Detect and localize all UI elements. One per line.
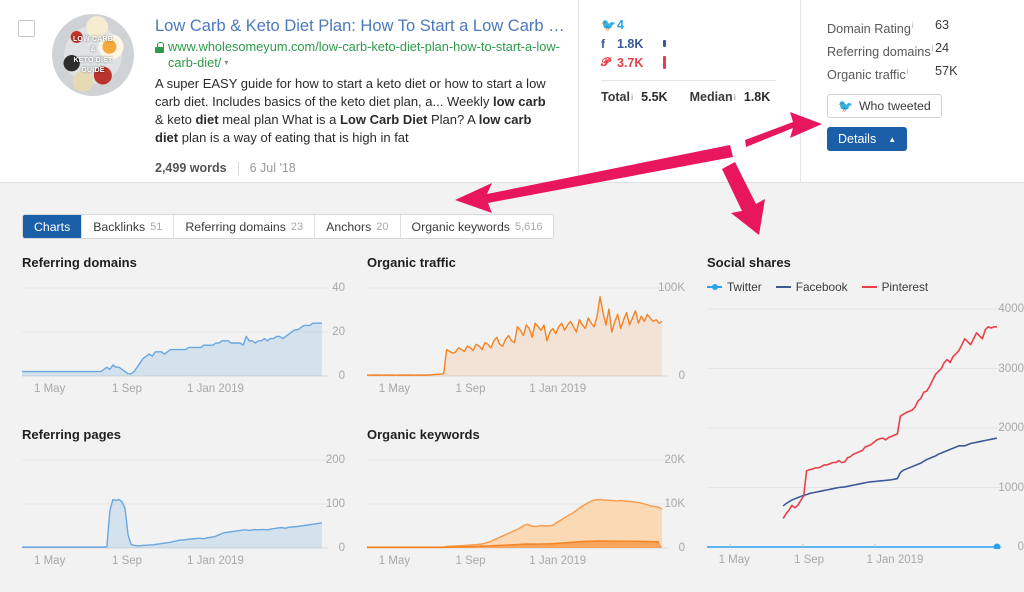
seo-metrics-cell: Domain Ratingi63Referring domainsi24Orga… <box>800 0 1024 182</box>
legend-label: Pinterest <box>882 280 929 294</box>
charts-column-middle: Organic traffic 0100K 1 May1 Sep1 Jan 20… <box>345 255 685 569</box>
charts-column-left: Referring domains 02040 1 May1 Sep1 Jan … <box>0 255 345 569</box>
tab-charts[interactable]: Charts <box>23 215 82 238</box>
chart-plot-social-shares[interactable]: 01000200030004000 <box>707 301 1024 549</box>
legend-label: Facebook <box>796 280 848 294</box>
social-metrics-list: 🐦4f1.8K𝓟3.7K <box>601 15 800 72</box>
chart-svg <box>707 301 1024 549</box>
chart-social-shares: Social shares TwitterFacebookPinterest 0… <box>707 255 1024 568</box>
social-metric-value: 3.7K <box>617 56 663 70</box>
tab-count: 51 <box>150 221 162 233</box>
tab-count: 20 <box>376 221 388 233</box>
seo-metric-row: Organic traffici57K <box>827 62 1024 85</box>
social-total-value: 5.5K <box>641 90 667 104</box>
info-icon[interactable]: i <box>907 67 909 76</box>
chart-svg <box>22 280 362 378</box>
chart-title-organic-traffic: Organic traffic <box>367 255 685 270</box>
result-title-link[interactable]: Low Carb & Keto Diet Plan: How To Start … <box>155 16 564 36</box>
description-highlight: diet <box>195 112 218 127</box>
result-checkbox[interactable] <box>18 20 35 37</box>
chart-spacer <box>367 397 685 427</box>
chart-xaxis-referring-domains: 1 May1 Sep1 Jan 2019 <box>22 383 345 397</box>
chart-svg <box>22 452 362 550</box>
social-metric-value: 1.8K <box>617 37 663 51</box>
social-total-label: Total <box>601 90 630 104</box>
chart-organic-keywords: Organic keywords 010K20K 1 May1 Sep1 Jan… <box>367 427 685 569</box>
seo-metrics-list: Domain Ratingi63Referring domainsi24Orga… <box>827 16 1024 85</box>
chart-spacer <box>22 397 345 427</box>
seo-metric-label: Domain Ratingi <box>827 16 935 39</box>
chart-xtick-label: 1 Jan 2019 <box>187 555 244 567</box>
charts-column-right: Social shares TwitterFacebookPinterest 0… <box>685 255 1024 569</box>
chart-referring-domains: Referring domains 02040 1 May1 Sep1 Jan … <box>22 255 345 397</box>
chart-xtick-label: 1 May <box>34 555 65 567</box>
description-text: plan is a way of eating that is high in … <box>178 130 409 145</box>
legend-item-facebook[interactable]: Facebook <box>776 280 848 294</box>
seo-metric-label: Referring domainsi <box>827 39 935 62</box>
social-divider <box>601 80 776 81</box>
chart-xtick-label: 1 Jan 2019 <box>187 383 244 395</box>
chart-plot-organic-traffic[interactable]: 0100K <box>367 280 685 378</box>
result-checkbox-cell <box>0 0 52 182</box>
result-main-cell: Low Carb & Keto Diet Plan: How To Start … <box>155 0 578 182</box>
legend-swatch <box>776 286 791 288</box>
chart-xtick-label: 1 Sep <box>456 555 486 567</box>
chart-area <box>22 500 322 548</box>
result-thumbnail-cell: LOW CARB&KETO DIETGUIDE <box>52 0 155 182</box>
charts-grid: Referring domains 02040 1 May1 Sep1 Jan … <box>0 239 1024 569</box>
chart-xtick-label: 1 Sep <box>456 383 486 395</box>
who-tweeted-label: Who tweeted <box>859 99 931 113</box>
chart-plot-referring-pages[interactable]: 0100200 <box>22 452 345 550</box>
chart-title-referring-domains: Referring domains <box>22 255 345 270</box>
social-median-value: 1.8K <box>744 90 770 104</box>
tab-label: Referring domains <box>185 220 285 234</box>
legend-swatch <box>862 286 877 288</box>
seo-metric-value: 63 <box>935 16 949 39</box>
social-metric-value: 4 <box>617 18 663 32</box>
social-median-label: Median <box>690 90 733 104</box>
lock-icon <box>155 42 164 53</box>
tab-label: Organic keywords <box>412 220 510 234</box>
tab-label: Backlinks <box>93 220 145 234</box>
twitter-icon: 🐦 <box>601 18 617 32</box>
chart-xtick-label: 1 May <box>379 555 410 567</box>
chart-line-facebook <box>783 438 997 506</box>
chart-xaxis-organic-keywords: 1 May1 Sep1 Jan 2019 <box>367 555 685 569</box>
chevron-up-icon: ▲ <box>888 135 896 144</box>
description-highlight: Low Carb Diet <box>340 112 427 127</box>
seo-metric-label: Organic traffici <box>827 62 935 85</box>
chart-title-organic-keywords: Organic keywords <box>367 427 685 442</box>
social-metric-row: 𝓟3.7K <box>601 53 800 72</box>
social-metric-bar <box>663 40 666 48</box>
description-text: & keto <box>155 112 195 127</box>
tab-referring-domains[interactable]: Referring domains23 <box>174 215 315 238</box>
description-highlight: low carb <box>493 94 546 109</box>
chart-xtick-label: 1 Jan 2019 <box>529 383 586 395</box>
social-shares-legend: TwitterFacebookPinterest <box>707 280 1024 294</box>
info-icon[interactable]: i <box>932 44 934 53</box>
thumbnail-caption: LOW CARB&KETO DIETGUIDE <box>52 35 134 76</box>
chart-xaxis-referring-pages: 1 May1 Sep1 Jan 2019 <box>22 555 345 569</box>
publish-date-label: 6 Jul '18 <box>250 161 296 175</box>
social-metric-bar <box>663 56 666 69</box>
tab-label: Anchors <box>326 220 371 234</box>
seo-metric-row: Domain Ratingi63 <box>827 16 1024 39</box>
result-description: A super EASY guide for how to start a ke… <box>155 75 555 147</box>
details-label: Details <box>838 132 876 146</box>
tab-count: 23 <box>291 221 303 233</box>
tab-count: 5,616 <box>515 221 543 233</box>
seo-metric-value: 57K <box>935 62 958 85</box>
chart-line-pinterest <box>783 327 997 519</box>
pinterest-icon: 𝓟 <box>601 55 617 70</box>
result-meta-row: 2,499 words 6 Jul '18 <box>155 161 564 175</box>
chart-plot-organic-keywords[interactable]: 010K20K <box>367 452 685 550</box>
legend-swatch <box>707 286 722 288</box>
info-icon-median[interactable]: i <box>734 93 736 102</box>
details-button[interactable]: Details ▲ <box>827 127 907 151</box>
facebook-icon: f <box>601 37 617 51</box>
chart-xtick-label: 1 Sep <box>112 555 142 567</box>
chart-xtick-label: 1 May <box>379 383 410 395</box>
meta-divider <box>238 162 239 175</box>
info-icon[interactable]: i <box>912 21 914 30</box>
social-metric-row: 🐦4 <box>601 15 800 34</box>
result-url-link[interactable]: www.wholesomeyum.com/low-carb-keto-diet-… <box>168 39 564 71</box>
chart-xtick-label: 1 Jan 2019 <box>867 554 924 566</box>
twitter-icon: 🐦 <box>838 99 853 113</box>
tab-label: Charts <box>34 220 70 234</box>
social-metrics-cell: 🐦4f1.8K𝓟3.7K Totali 5.5K Mediani 1.8K <box>578 0 800 182</box>
description-text: Plan? A <box>427 112 478 127</box>
chart-xtick-label: 1 Sep <box>112 383 142 395</box>
social-metric-row: f1.8K <box>601 34 800 53</box>
tab-organic-keywords[interactable]: Organic keywords5,616 <box>401 215 554 238</box>
chart-area <box>367 297 662 376</box>
result-thumbnail-image: LOW CARB&KETO DIETGUIDE <box>52 14 134 96</box>
legend-item-pinterest[interactable]: Pinterest <box>862 280 929 294</box>
tab-backlinks[interactable]: Backlinks51 <box>82 215 174 238</box>
description-text: meal plan What is a <box>219 112 340 127</box>
result-url-row: www.wholesomeyum.com/low-carb-keto-diet-… <box>155 39 564 71</box>
chart-xaxis-social-shares: 1 May1 Sep1 Jan 2019 <box>707 554 1024 568</box>
chart-svg <box>367 452 707 550</box>
description-text: A super EASY guide for how to start a ke… <box>155 76 546 109</box>
tabs-bar: ChartsBacklinks51Referring domains23Anch… <box>22 214 554 239</box>
chart-title-referring-pages: Referring pages <box>22 427 345 442</box>
chevron-down-icon[interactable]: ▾ <box>224 55 228 71</box>
social-totals-row: Totali 5.5K Mediani 1.8K <box>601 90 800 104</box>
chart-xtick-label: 1 Sep <box>794 554 824 566</box>
who-tweeted-button[interactable]: 🐦 Who tweeted <box>827 94 942 118</box>
seo-metric-value: 24 <box>935 39 949 62</box>
chart-xtick-label: 1 May <box>719 554 750 566</box>
chart-xtick-label: 1 May <box>34 383 65 395</box>
chart-svg <box>367 280 707 378</box>
chart-xaxis-organic-traffic: 1 May1 Sep1 Jan 2019 <box>367 383 685 397</box>
twitter-endpoint-marker <box>994 544 1001 550</box>
chart-organic-traffic: Organic traffic 0100K 1 May1 Sep1 Jan 20… <box>367 255 685 397</box>
chart-plot-referring-domains[interactable]: 02040 <box>22 280 345 378</box>
tab-anchors[interactable]: Anchors20 <box>315 215 400 238</box>
tabs-bar-wrap: ChartsBacklinks51Referring domains23Anch… <box>0 183 1024 239</box>
legend-label: Twitter <box>727 280 762 294</box>
legend-item-twitter[interactable]: Twitter <box>707 280 762 294</box>
info-icon-total[interactable]: i <box>631 93 633 102</box>
social-metric-bar <box>663 23 666 26</box>
search-result-panel: LOW CARB&KETO DIETGUIDE Low Carb & Keto … <box>0 0 1024 183</box>
chart-xtick-label: 1 Jan 2019 <box>529 555 586 567</box>
word-count-label: 2,499 words <box>155 161 227 175</box>
seo-metric-row: Referring domainsi24 <box>827 39 1024 62</box>
chart-referring-pages: Referring pages 0100200 1 May1 Sep1 Jan … <box>22 427 345 569</box>
chart-title-social-shares: Social shares <box>707 255 1024 270</box>
